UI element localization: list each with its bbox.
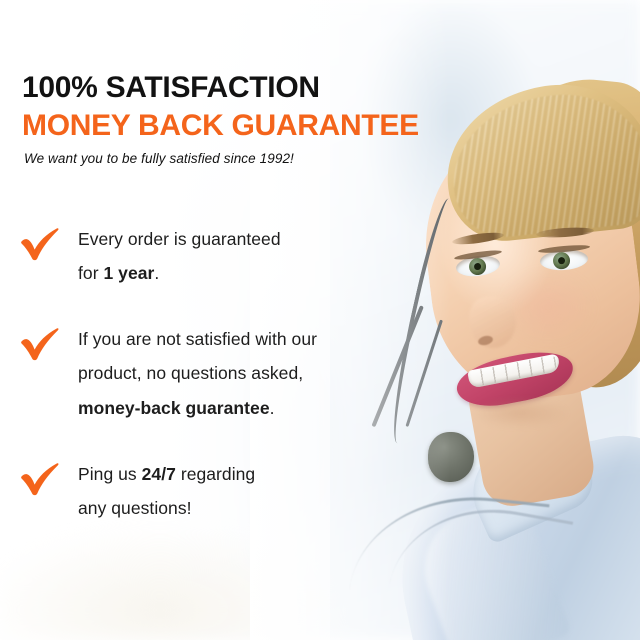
list-item-text: Every order is guaranteed for 1 year. bbox=[78, 222, 398, 290]
bullet-2-line-1: If you are not satisfied with our bbox=[78, 329, 317, 349]
satisfaction-guarantee-banner: 100% SATISFACTION MONEY BACK GUARANTEE W… bbox=[0, 0, 640, 640]
bullet-2-emphasis: money-back guarantee bbox=[78, 398, 270, 418]
guarantee-bullet-list: Every order is guaranteed for 1 year. If… bbox=[18, 222, 398, 557]
bullet-3-line-1-prefix: Ping us bbox=[78, 464, 142, 484]
check-icon bbox=[18, 224, 62, 264]
subheadline: We want you to be fully satisfied since … bbox=[24, 151, 419, 166]
bullet-3-emphasis: 24/7 bbox=[142, 464, 176, 484]
list-item-text: Ping us 24/7 regarding any questions! bbox=[78, 457, 398, 525]
bullet-1-line-2-tail: . bbox=[154, 263, 159, 283]
bullet-1-line-2-prefix: for bbox=[78, 263, 103, 283]
bullet-1-emphasis: 1 year bbox=[103, 263, 154, 283]
bullet-3-line-1-tail: regarding bbox=[176, 464, 255, 484]
check-icon bbox=[18, 459, 62, 499]
check-icon bbox=[18, 324, 62, 364]
list-item: If you are not satisfied with our produc… bbox=[18, 322, 398, 424]
banner-content: 100% SATISFACTION MONEY BACK GUARANTEE W… bbox=[0, 0, 640, 640]
headline-line-1: 100% SATISFACTION bbox=[22, 72, 419, 104]
headline-block: 100% SATISFACTION MONEY BACK GUARANTEE W… bbox=[22, 72, 419, 166]
bullet-2-line-2: product, no questions asked, bbox=[78, 363, 303, 383]
list-item: Every order is guaranteed for 1 year. bbox=[18, 222, 398, 290]
bullet-1-line-1: Every order is guaranteed bbox=[78, 229, 281, 249]
list-item: Ping us 24/7 regarding any questions! bbox=[18, 457, 398, 525]
bullet-3-line-2: any questions! bbox=[78, 498, 192, 518]
list-item-text: If you are not satisfied with our produc… bbox=[78, 322, 398, 424]
bullet-2-line-3-tail: . bbox=[270, 398, 275, 418]
headline-line-2: MONEY BACK GUARANTEE bbox=[22, 110, 419, 142]
